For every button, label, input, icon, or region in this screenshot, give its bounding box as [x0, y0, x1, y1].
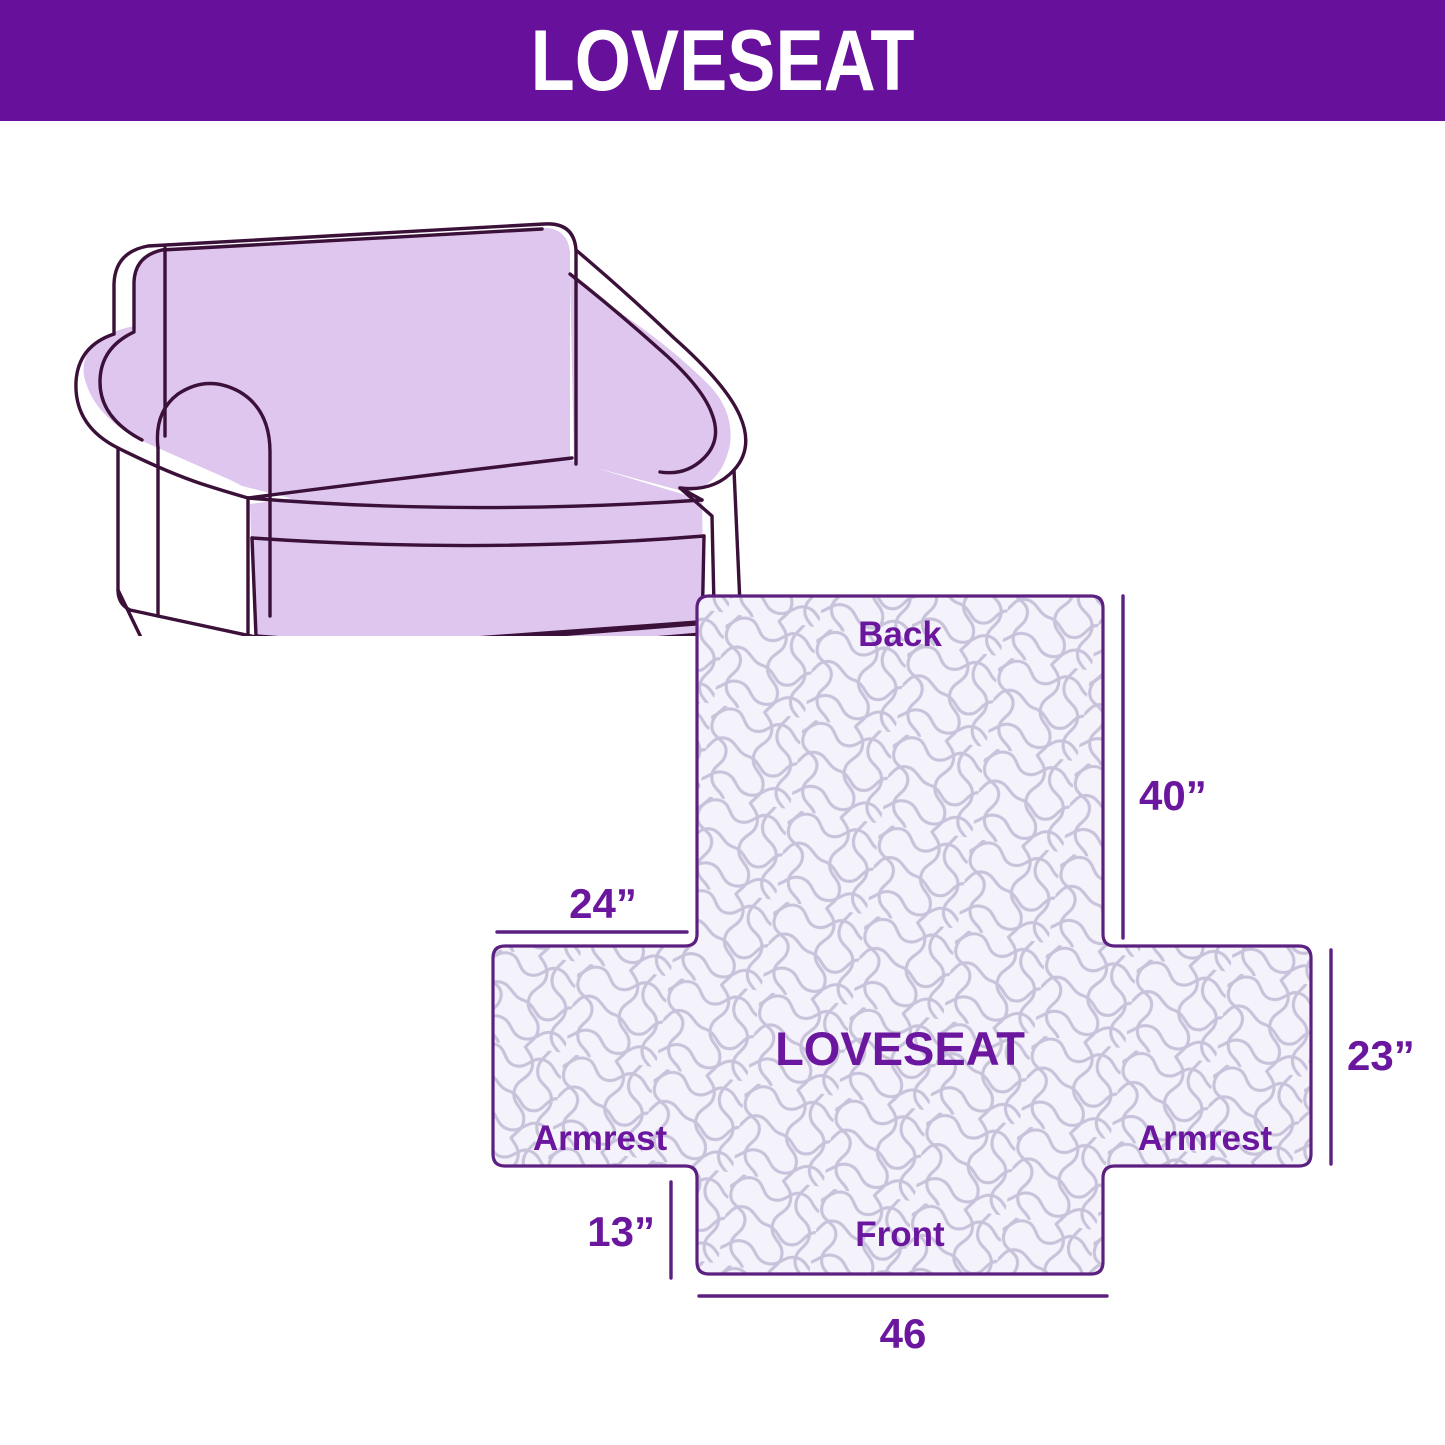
loveseat-dimension-infographic: LOVESEAT	[0, 0, 1445, 1445]
panel-label-armrest-right: Armrest	[1138, 1119, 1273, 1158]
cross-pattern-svg: Back LOVESEAT Armrest Armrest Front 40” …	[455, 570, 1415, 1360]
cross-shape-group	[493, 596, 1311, 1274]
dimension-label-23: 23”	[1347, 1032, 1415, 1079]
panel-label-center: LOVESEAT	[775, 1022, 1025, 1075]
loveseat-illustration	[62, 186, 762, 636]
dimension-back-height: 40”	[1123, 596, 1207, 938]
dimension-armrest-height: 23”	[1331, 950, 1415, 1164]
sofa-line-drawing-svg	[62, 186, 762, 636]
panel-label-back: Back	[858, 615, 942, 654]
cross-panel-outline	[493, 596, 1311, 1274]
page-title: LOVESEAT	[530, 18, 914, 104]
dimension-label-40: 40”	[1139, 772, 1207, 819]
dimension-label-13: 13”	[587, 1208, 655, 1255]
dimension-front-width: 46	[699, 1296, 1107, 1357]
panel-label-front: Front	[855, 1215, 945, 1254]
panel-label-armrest-left: Armrest	[533, 1119, 668, 1158]
dimension-label-46: 46	[880, 1310, 927, 1357]
flat-pattern-diagram: Back LOVESEAT Armrest Armrest Front 40” …	[455, 570, 1415, 1360]
dimension-front-height: 13”	[587, 1182, 671, 1278]
right-arm-cover	[570, 274, 731, 492]
dimension-back-width: 24”	[497, 880, 687, 932]
header-banner: LOVESEAT	[0, 0, 1445, 121]
dimension-label-24: 24”	[569, 880, 637, 927]
